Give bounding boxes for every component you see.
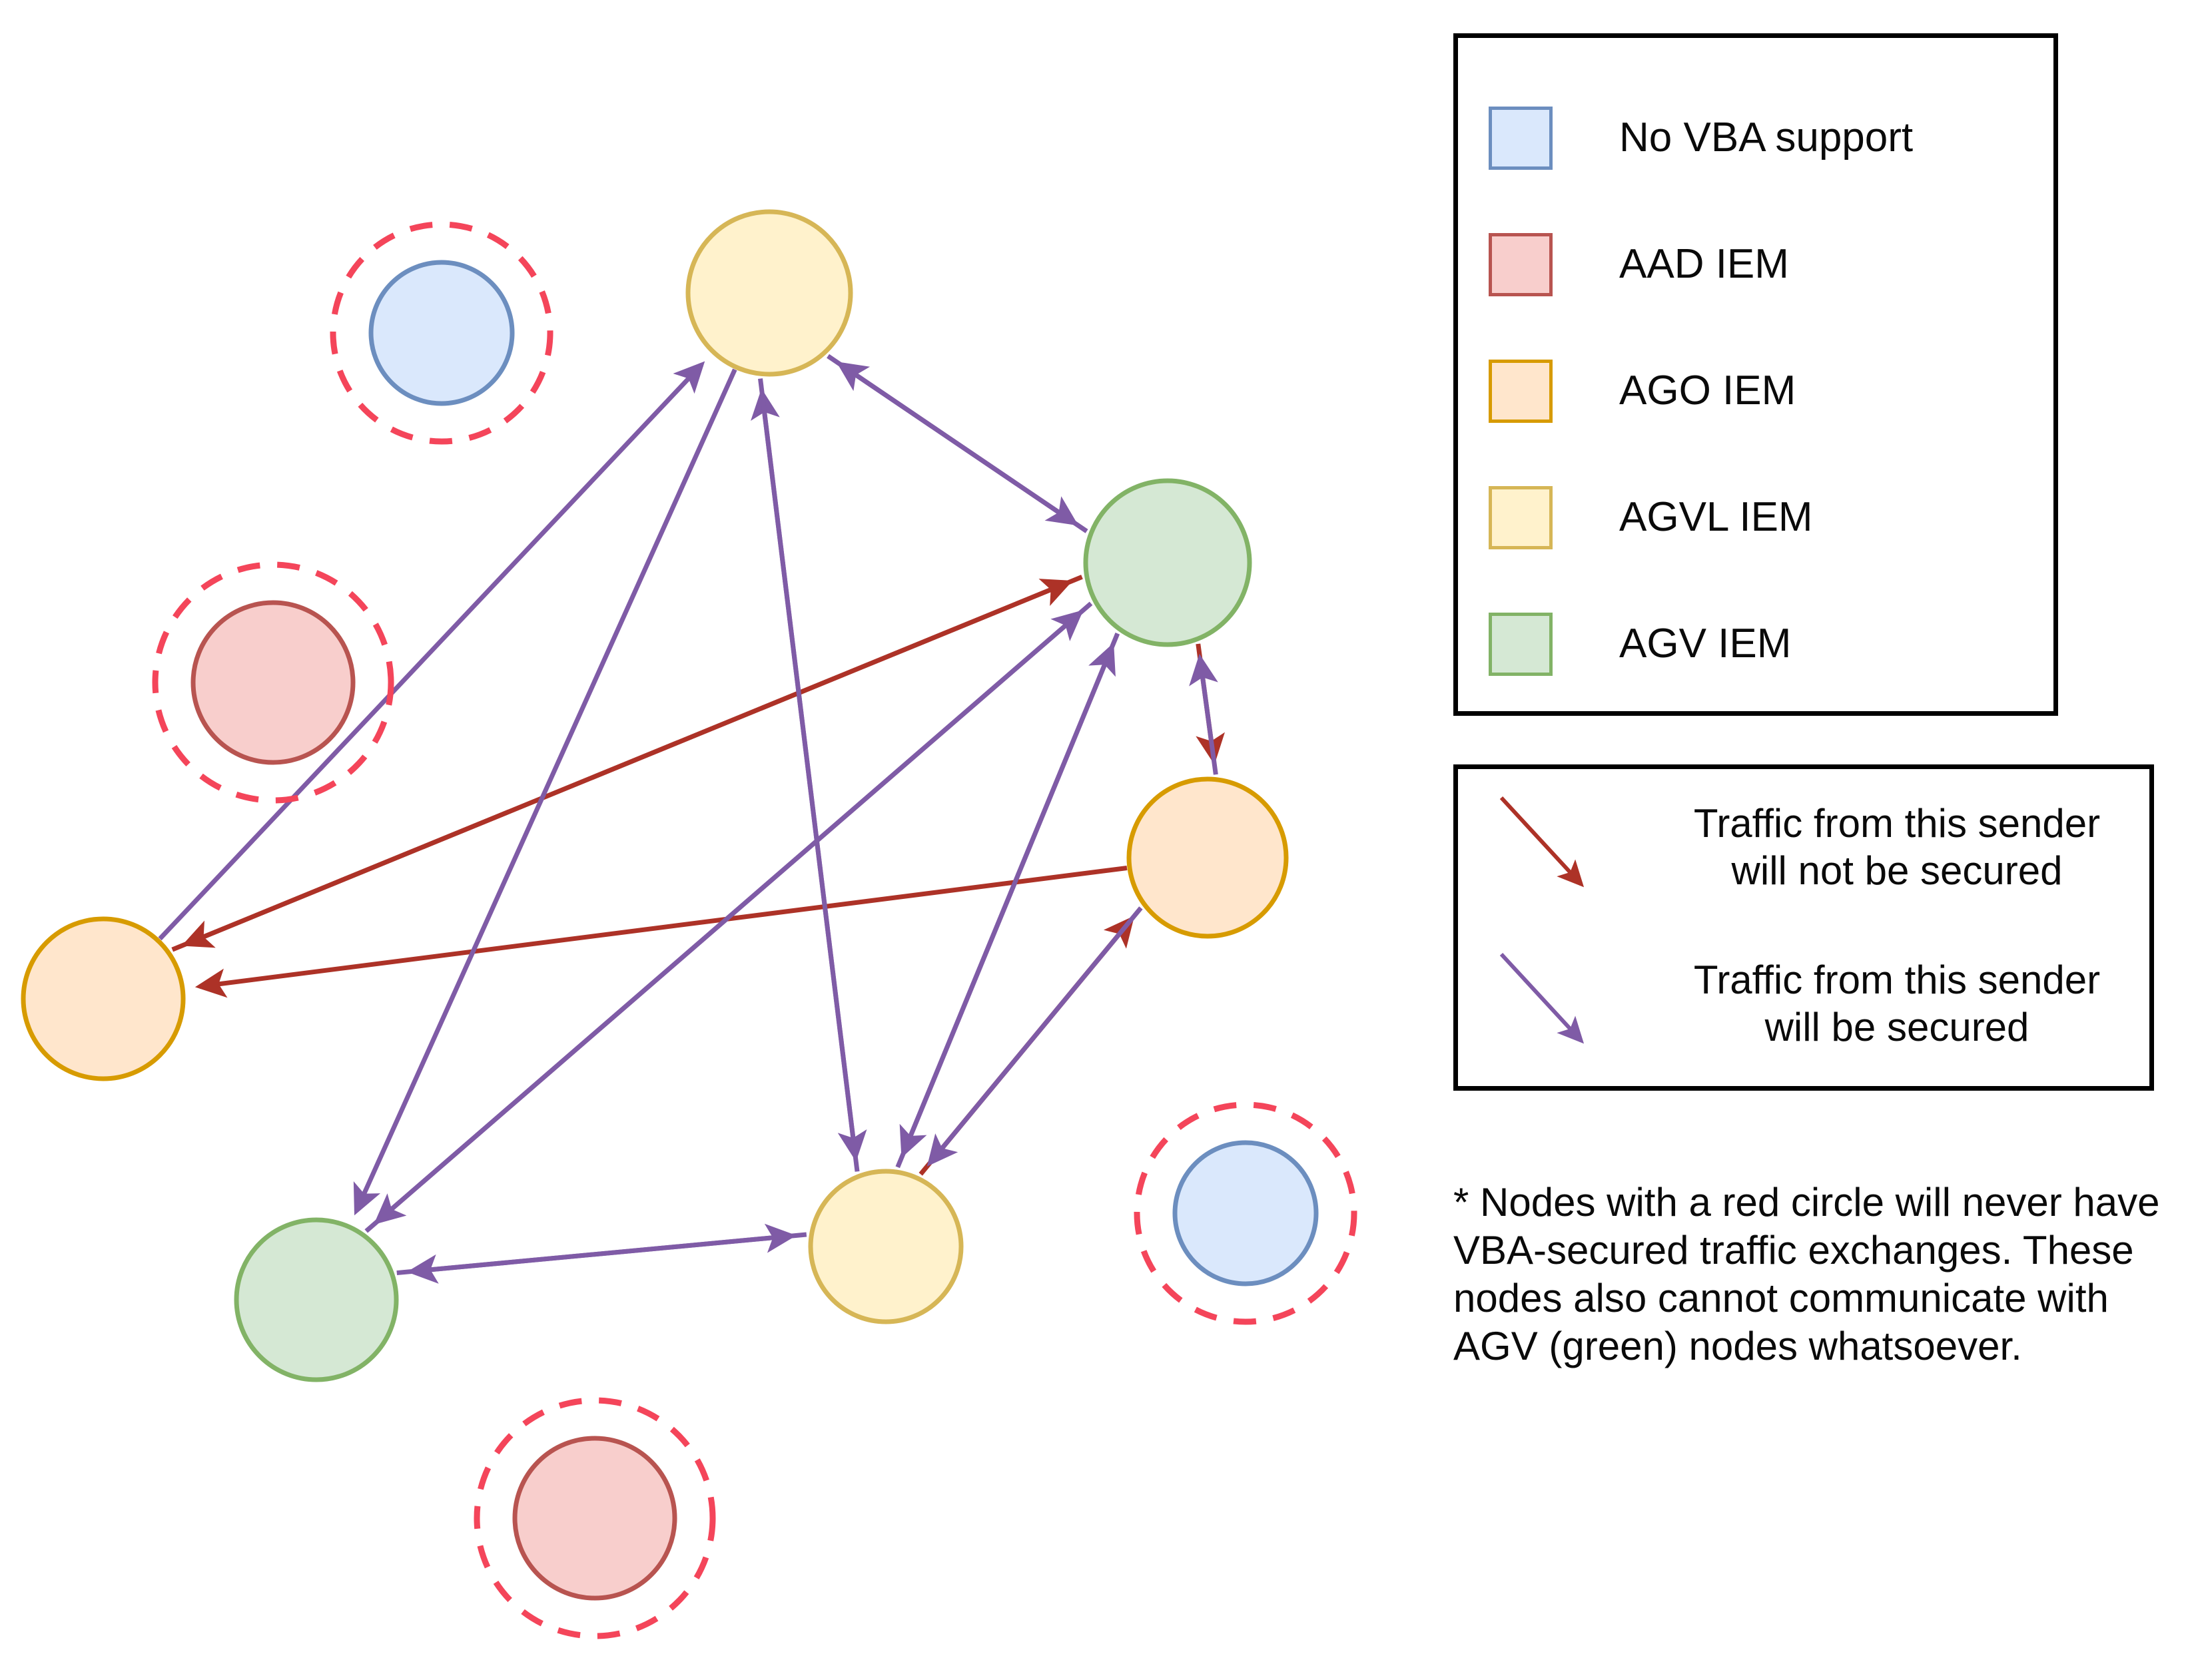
legend-row-2: AGO IEM — [1489, 328, 2053, 454]
node-red-bottom[interactable] — [477, 1400, 713, 1636]
node-circle[interactable] — [23, 919, 183, 1079]
node-yellow-bottom[interactable] — [811, 1171, 961, 1322]
legend-swatch-icon — [1489, 233, 1553, 296]
edge-yellow-top-to-green-center — [828, 356, 1074, 523]
legend-arrow-types: Traffic from this senderwill not be secu… — [1453, 764, 2154, 1091]
legend-swatch-icon — [1489, 107, 1553, 170]
edge-orange-right-to-orange-left — [200, 868, 1127, 986]
node-circle[interactable] — [1129, 779, 1286, 936]
legend-swatch-icon — [1489, 486, 1553, 549]
legend-arrow-row-0: Traffic from this senderwill not be secu… — [1458, 769, 2149, 926]
legend-label: No VBA support — [1619, 116, 1913, 159]
edge-yellow-bottom-to-green-bottom — [412, 1235, 807, 1271]
legend-arrow-icon — [1458, 781, 1658, 914]
legend-arrow-label: Traffic from this senderwill not be secu… — [1658, 800, 2149, 895]
edge-green-center-to-green-bottom — [377, 603, 1091, 1221]
edge-orange-right-to-yellow-bottom — [930, 908, 1141, 1163]
node-red-left[interactable] — [155, 565, 391, 800]
node-yellow-top[interactable] — [688, 212, 851, 374]
legend-node-types: No VBA supportAAD IEMAGO IEMAGVL IEMAGV … — [1453, 33, 2058, 716]
legend-row-0: No VBA support — [1489, 75, 2053, 201]
node-orange-right[interactable] — [1129, 779, 1286, 936]
node-blue-top[interactable] — [333, 224, 550, 441]
legend-arrow-label: Traffic from this senderwill be secured — [1658, 957, 2149, 1051]
node-blue-bottom[interactable] — [1137, 1105, 1354, 1322]
legend-arrow-row-1: Traffic from this senderwill be secured — [1458, 926, 2149, 1082]
node-circle[interactable] — [811, 1171, 961, 1322]
legend-arrow-icon — [1458, 938, 1658, 1071]
node-circle[interactable] — [193, 603, 353, 762]
diagram-root: No VBA supportAAD IEMAGO IEMAGVL IEMAGV … — [0, 0, 2188, 1680]
edge-yellow-top-to-yellow-bottom — [760, 379, 855, 1157]
node-circle[interactable] — [1086, 481, 1250, 645]
node-green-bottom[interactable] — [236, 1220, 396, 1380]
node-circle[interactable] — [236, 1220, 396, 1380]
node-circle[interactable] — [688, 212, 851, 374]
legend-row-1: AAD IEM — [1489, 201, 2053, 328]
legend-label: AGVL IEM — [1619, 495, 1813, 539]
legend-row-4: AGV IEM — [1489, 581, 2053, 707]
legend-row-3: AGVL IEM — [1489, 454, 2053, 581]
edge-orange-right-to-green-center — [1200, 659, 1216, 774]
node-orange-left[interactable] — [23, 919, 183, 1079]
edge-yellow-top-to-green-bottom — [356, 370, 735, 1211]
legend-swatch-icon — [1489, 613, 1553, 676]
edge-layer — [160, 356, 1216, 1273]
legend-label: AGV IEM — [1619, 622, 1791, 665]
network-graph — [0, 0, 1432, 1680]
node-circle[interactable] — [1175, 1143, 1316, 1284]
footnote-text: * Nodes with a red circle will never hav… — [1453, 1179, 2173, 1370]
node-circle[interactable] — [371, 262, 512, 404]
node-circle[interactable] — [515, 1438, 675, 1598]
legend-label: AGO IEM — [1619, 369, 1796, 412]
legend-label: AAD IEM — [1619, 242, 1789, 286]
legend-swatch-icon — [1489, 360, 1553, 423]
node-green-center[interactable] — [1086, 481, 1250, 645]
